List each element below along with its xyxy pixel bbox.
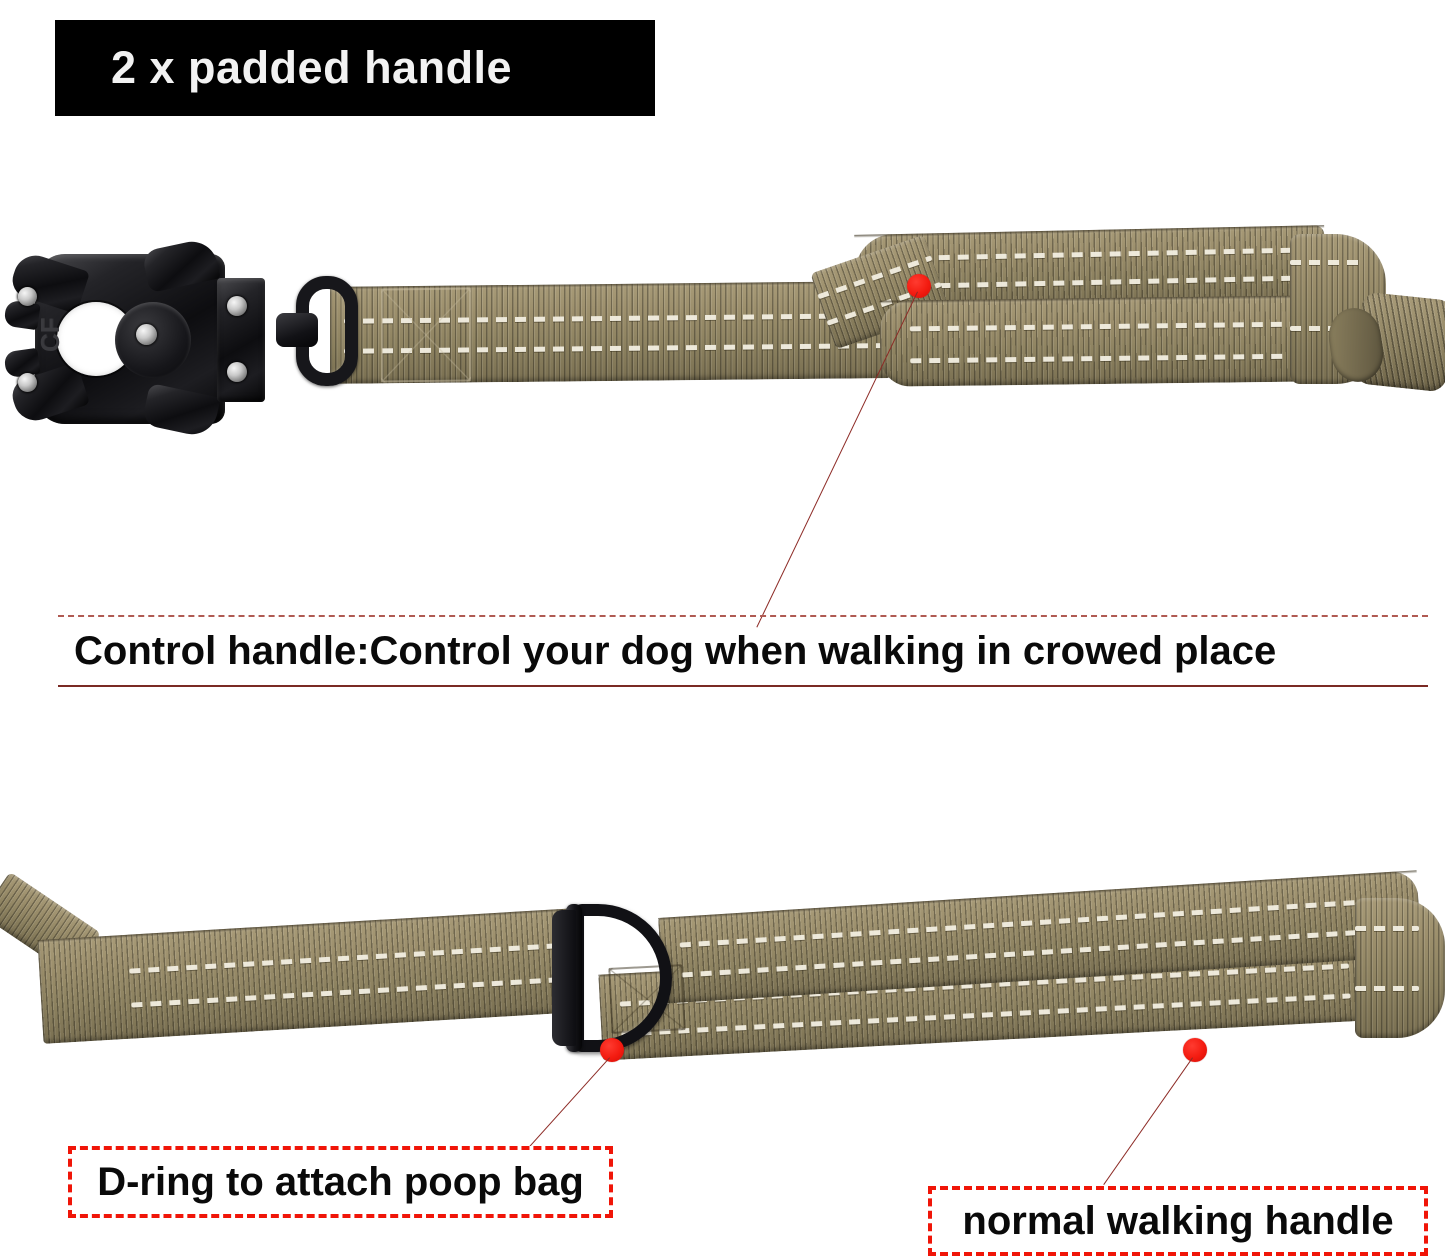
callout-walking-handle: normal walking handle: [928, 1186, 1428, 1256]
swivel-post: [276, 313, 318, 347]
callout-d-ring-text: D-ring to attach poop bag: [97, 1160, 584, 1205]
d-ring: [552, 904, 672, 1052]
bottom-leash-figure: [0, 880, 1445, 1080]
callout-d-ring: D-ring to attach poop bag: [68, 1146, 613, 1218]
frog-clip-clasp: CF: [5, 240, 305, 440]
top-leash-figure: CF: [0, 200, 1445, 460]
walking-handle-loop-end: [1355, 898, 1445, 1038]
callout-control-handle: Control handle:Control your dog when wal…: [58, 615, 1428, 687]
clasp-screw: [227, 362, 247, 382]
title-banner-label: 2 x padded handle: [111, 42, 512, 94]
d-ring-keeper: [552, 910, 576, 1046]
webbing-strap-left-run: [37, 908, 582, 1044]
box-x-stitch: [381, 288, 471, 383]
callout-dot-control-handle: [907, 274, 931, 298]
clasp-brand-marking: CF: [27, 326, 73, 352]
clasp-screw: [136, 324, 157, 345]
title-banner: 2 x padded handle: [55, 20, 655, 116]
callout-dot-walking-handle: [1183, 1038, 1207, 1062]
control-handle-lower-band: [879, 295, 1330, 386]
clasp-screw: [227, 296, 247, 316]
d-ring-loop: [572, 904, 672, 1052]
callout-walking-handle-text: normal walking handle: [962, 1199, 1393, 1244]
clasp-screw: [18, 373, 37, 392]
callout-control-handle-text: Control handle:Control your dog when wal…: [74, 629, 1276, 674]
infographic-canvas: 2 x padded handle: [0, 0, 1445, 1260]
callout-dot-d-ring: [600, 1038, 624, 1062]
clasp-screw: [18, 287, 37, 306]
